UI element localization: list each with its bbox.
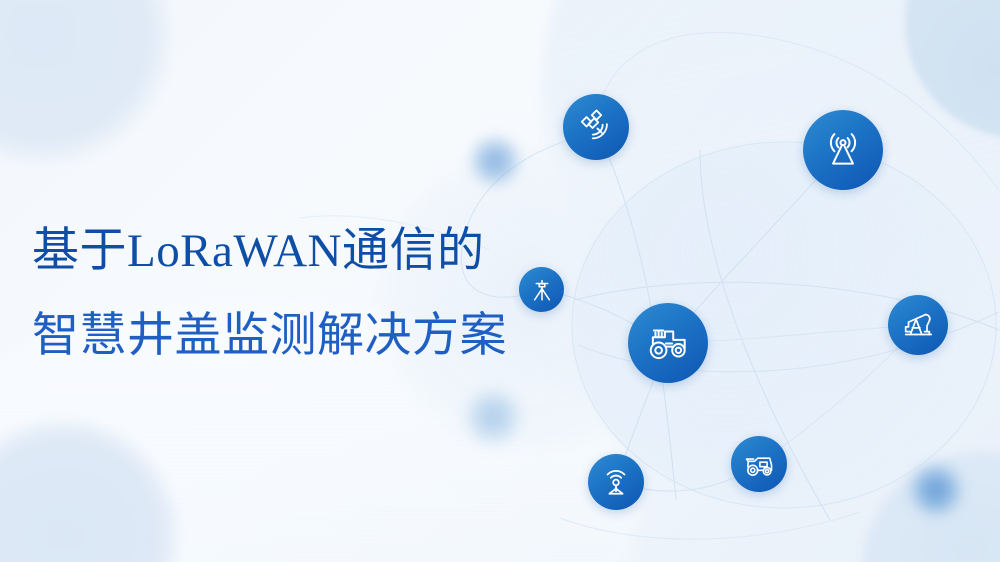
bokeh-dot-lower <box>464 388 522 446</box>
satellite-icon <box>577 108 615 146</box>
radio-tower-icon <box>820 127 866 173</box>
node-radio-tower[interactable] <box>803 110 883 190</box>
node-harvester[interactable] <box>731 436 787 492</box>
background-blob-bottom-left <box>0 420 178 562</box>
node-wireless-sensor[interactable] <box>588 454 644 510</box>
background-blob-top-left <box>0 0 172 164</box>
oil-pumpjack-icon <box>900 307 936 343</box>
tractor-icon <box>644 319 692 367</box>
node-oil-pumpjack[interactable] <box>888 295 948 355</box>
title-line-primary: 基于LoRaWAN通信的 <box>32 228 592 275</box>
title-line-secondary: 智慧井盖监测解决方案 <box>32 313 592 360</box>
bokeh-dot-right <box>908 462 964 518</box>
harvester-icon <box>742 447 776 481</box>
node-satellite[interactable] <box>563 94 629 160</box>
slide-canvas: 基于LoRaWAN通信的 智慧井盖监测解决方案 <box>0 0 1000 562</box>
background-blob-top-right <box>905 0 1000 138</box>
bokeh-dot-upper <box>468 134 522 188</box>
wireless-sensor-icon <box>600 466 632 498</box>
title-block: 基于LoRaWAN通信的 智慧井盖监测解决方案 <box>32 228 592 360</box>
node-tractor[interactable] <box>628 303 708 383</box>
